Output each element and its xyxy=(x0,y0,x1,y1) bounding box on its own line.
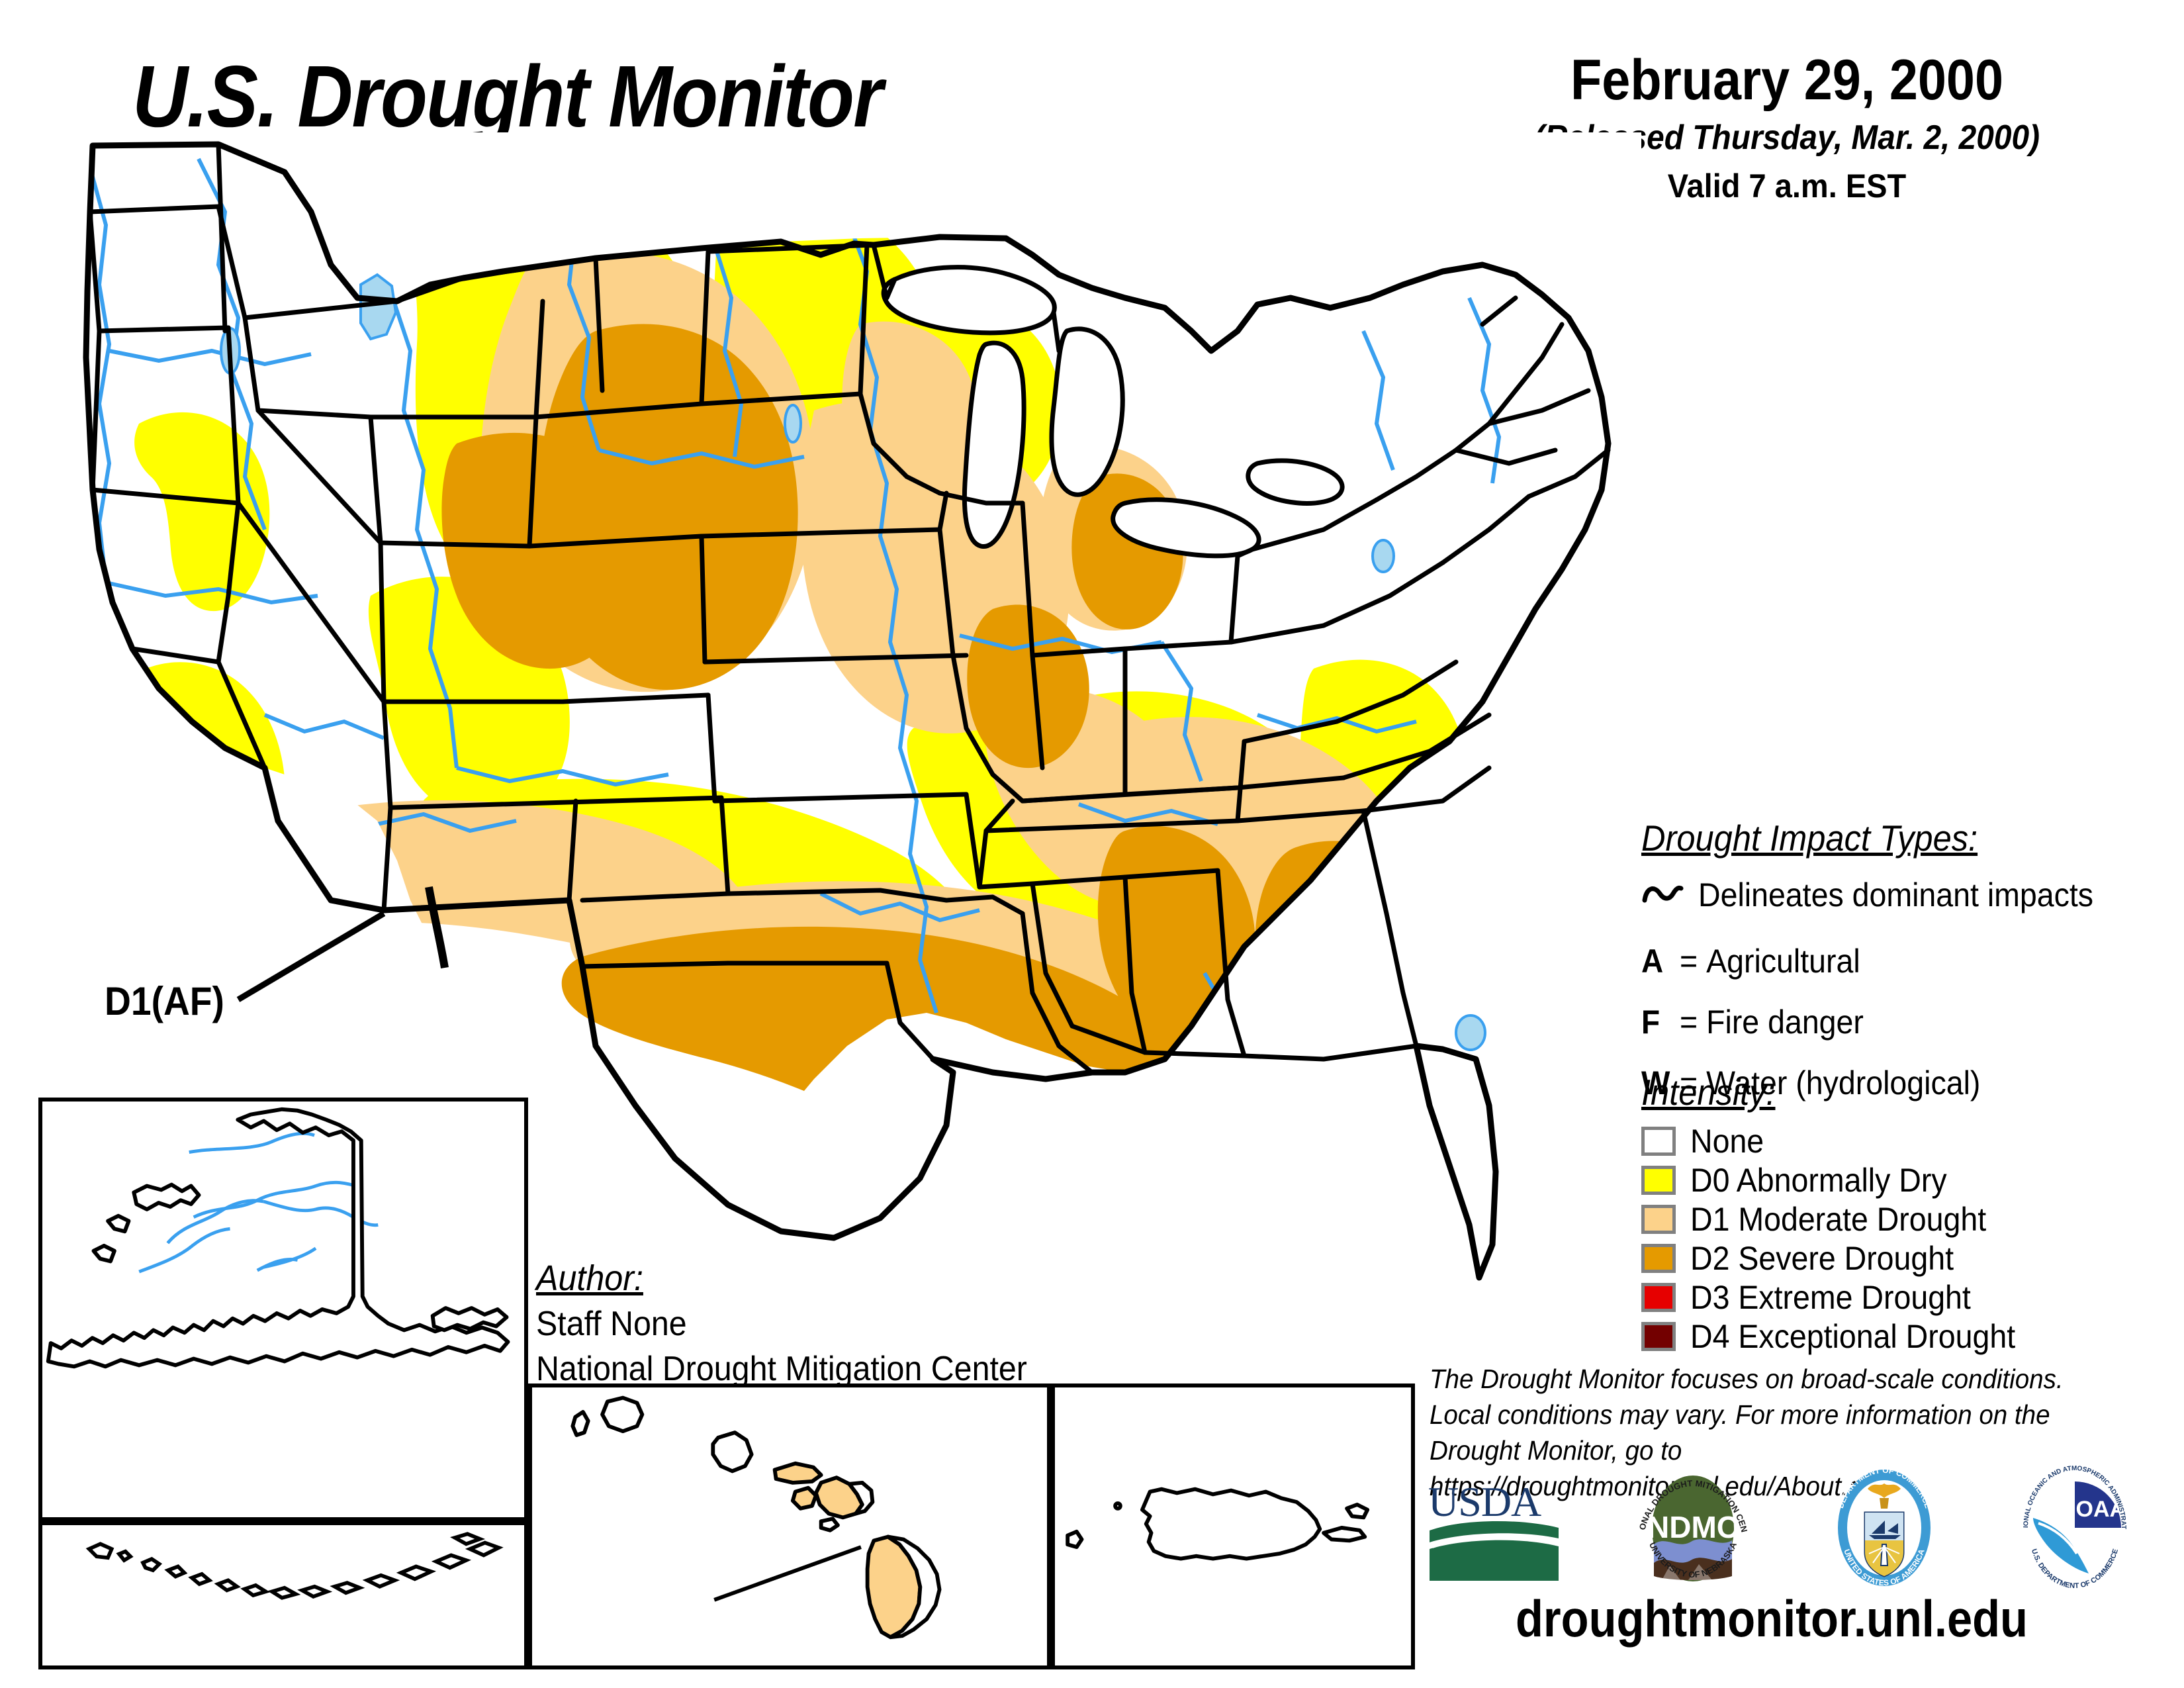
page-title: U.S. Drought Monitor xyxy=(132,46,882,146)
alaska-outline xyxy=(48,1109,508,1367)
impact-row-agricultural: A = Agricultural xyxy=(1641,937,2171,985)
intensity-row-d3[interactable]: D3 Extreme Drought xyxy=(1641,1278,2171,1317)
intensity-label-d4: D4 Exceptional Drought xyxy=(1690,1317,2015,1356)
impact-label-fire: = Fire danger xyxy=(1680,1003,1864,1041)
intensity-row-d1[interactable]: D1 Moderate Drought xyxy=(1641,1199,2171,1239)
author-name: Staff None xyxy=(536,1304,1027,1344)
usda-logo[interactable]: USDA xyxy=(1423,1470,1565,1585)
valid-date: February 29, 2000 xyxy=(1507,52,2067,109)
swatch-none xyxy=(1641,1127,1676,1156)
svg-text:USDA: USDA xyxy=(1428,1478,1541,1525)
intensity-label-d3: D3 Extreme Drought xyxy=(1690,1278,1971,1317)
disclaimer-line-1: The Drought Monitor focuses on broad-sca… xyxy=(1430,1361,2089,1397)
drought-impact-types-legend: Drought Impact Types: Delineates dominan… xyxy=(1641,817,2171,1107)
intensity-row-d0[interactable]: D0 Abnormally Dry xyxy=(1641,1160,2171,1199)
hawaii-islands xyxy=(572,1398,939,1638)
intensity-label-d1: D1 Moderate Drought xyxy=(1690,1200,1986,1239)
disclaimer-line-2: Local conditions may vary. For more info… xyxy=(1430,1397,2089,1432)
alaska-inset[interactable] xyxy=(38,1098,528,1521)
author-heading: Author: xyxy=(536,1258,643,1299)
puerto-rico-inset[interactable] xyxy=(1051,1383,1415,1669)
swatch-d1 xyxy=(1641,1205,1676,1234)
intensity-legend-heading: Intensity: xyxy=(1641,1071,1776,1113)
doc-seal[interactable]: DEPARTMENT OF COMMERCE UNITED STATES OF … xyxy=(1821,1460,1947,1595)
impact-row-squiggle: Delineates dominant impacts xyxy=(1641,871,2171,919)
squiggle-icon xyxy=(1641,880,1684,910)
impact-key-a: A xyxy=(1641,942,1676,980)
d1af-leader-line-hawaii xyxy=(714,1547,861,1600)
intensity-label-d2: D2 Severe Drought xyxy=(1690,1239,1954,1278)
swatch-d0 xyxy=(1641,1166,1676,1195)
intensity-row-d2[interactable]: D2 Severe Drought xyxy=(1641,1239,2171,1278)
ndmc-logo[interactable]: NDMC NATIONAL DROUGHT MITIGATION CENTER … xyxy=(1630,1460,1756,1595)
impact-row-fire: F = Fire danger xyxy=(1641,998,2171,1046)
d1af-callout-main: D1(AF) xyxy=(105,978,224,1024)
svg-text:NDMC: NDMC xyxy=(1647,1510,1739,1544)
intensity-legend: Intensity: None D0 Abnormally Dry D1 Mod… xyxy=(1641,1071,2171,1356)
intensity-label-d0: D0 Abnormally Dry xyxy=(1690,1161,1947,1199)
partner-logos: USDA NDMC NATIONAL DROUGHT MITIGATION CE… xyxy=(1423,1456,2138,1599)
aleutians-inset[interactable] xyxy=(38,1521,528,1669)
website-url[interactable]: droughtmonitor.unl.edu xyxy=(1516,1589,2028,1649)
swatch-d4 xyxy=(1641,1322,1676,1351)
impact-legend-heading: Drought Impact Types: xyxy=(1641,817,1978,859)
aleutians-outline xyxy=(89,1534,499,1598)
intensity-row-d4[interactable]: D4 Exceptional Drought xyxy=(1641,1317,2171,1356)
noaa-logo[interactable]: NOAA NATIONAL OCEANIC AND ATMOSPHERIC AD… xyxy=(2012,1460,2138,1595)
author-org: National Drought Mitigation Center xyxy=(536,1349,1027,1389)
squiggle-label: Delineates dominant impacts xyxy=(1698,876,2093,914)
author-block: Author: Staff None National Drought Miti… xyxy=(536,1258,1064,1389)
swatch-d3 xyxy=(1641,1283,1676,1312)
impact-key-f: F xyxy=(1641,1003,1676,1041)
impact-label-agricultural: = Agricultural xyxy=(1680,942,1860,980)
intensity-label-none: None xyxy=(1690,1122,1764,1160)
swatch-d2 xyxy=(1641,1244,1676,1273)
intensity-row-none[interactable]: None xyxy=(1641,1121,2171,1160)
hawaii-inset[interactable] xyxy=(528,1383,1051,1669)
puerto-rico-islands xyxy=(1068,1489,1367,1559)
